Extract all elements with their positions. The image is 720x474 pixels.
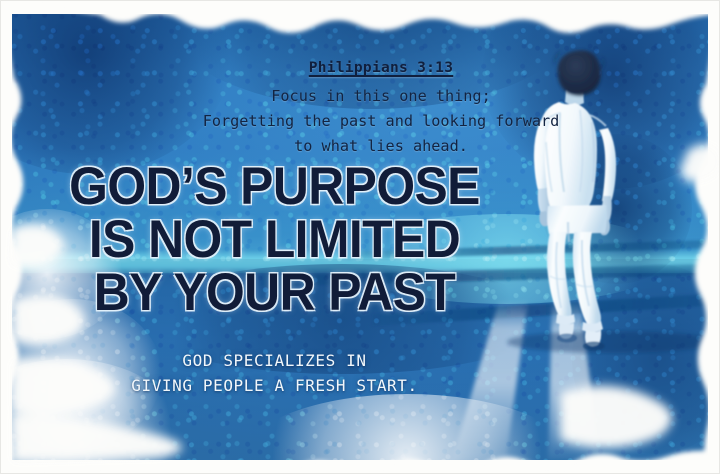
- headline: GOD’S PURPOSE IS NOT LIMITED BY YOUR PAS…: [37, 160, 512, 319]
- tagline: GOD SPECIALIZES IN GIVING PEOPLE A FRESH…: [22, 348, 527, 398]
- tagline-line-1: GOD SPECIALIZES IN: [22, 348, 527, 373]
- tagline-line-2: GIVING PEOPLE A FRESH START.: [22, 373, 527, 398]
- poster-canvas: Philippians 3:13 Focus in this one thing…: [0, 0, 720, 474]
- verse-line-2: Forgetting the past and looking forward: [0, 109, 720, 134]
- verse-line-1: Focus in this one thing;: [0, 84, 720, 109]
- verse-body: Focus in this one thing; Forgetting the …: [0, 84, 720, 159]
- verse-line-3: to what lies ahead.: [0, 134, 720, 159]
- verse-reference: Philippians 3:13: [0, 60, 720, 76]
- headline-line-2: IS NOT LIMITED: [37, 213, 512, 266]
- verse-reference-text: Philippians 3:13: [267, 60, 453, 76]
- text-layer: Philippians 3:13 Focus in this one thing…: [0, 0, 720, 474]
- headline-line-1: GOD’S PURPOSE: [37, 160, 512, 213]
- headline-line-3: BY YOUR PAST: [37, 266, 512, 319]
